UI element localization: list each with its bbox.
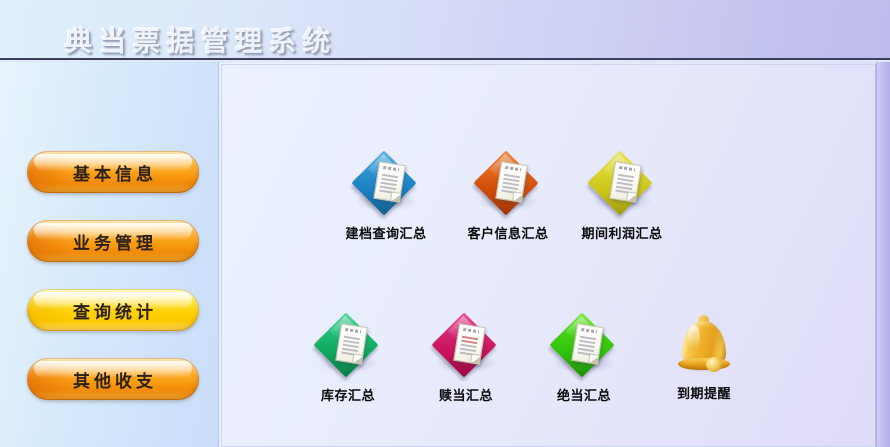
sidebar-item-label: 其他收支: [27, 358, 199, 400]
icon-item-inventory-summary[interactable]: 库存汇总: [292, 317, 404, 404]
book-icon: [550, 319, 618, 377]
book-icon: [314, 319, 382, 377]
icon-box: [542, 317, 626, 381]
content-frame: 建档查询汇总: [221, 64, 876, 447]
icon-item-forfeiture-summary[interactable]: 绝当汇总: [528, 317, 640, 404]
bell-icon: [674, 315, 734, 377]
panel-right-strip: [876, 62, 890, 447]
icon-label: 客户信息汇总: [467, 223, 548, 242]
main-panel: 建档查询汇总: [218, 62, 890, 447]
icon-grid: 建档查询汇总: [222, 65, 875, 446]
icon-item-customer-info-summary[interactable]: 客户信息汇总: [452, 155, 564, 242]
icon-label: 期间利润汇总: [581, 223, 662, 242]
icon-box: [662, 315, 746, 379]
icon-label: 建档查询汇总: [345, 223, 426, 242]
sidebar-item-business-management[interactable]: 业务管理: [27, 220, 199, 262]
icon-box: [424, 317, 508, 381]
book-icon: [588, 157, 656, 215]
icon-label: 库存汇总: [321, 385, 375, 404]
icon-box: [306, 317, 390, 381]
sidebar-item-label: 业务管理: [27, 220, 199, 262]
app-header: 典当票据管理系统: [0, 0, 890, 60]
icon-label: 到期提醒: [677, 383, 731, 402]
sidebar-item-query-statistics[interactable]: 查询统计: [27, 289, 199, 331]
sidebar: 基本信息 业务管理 查询统计 其他收支: [0, 62, 218, 447]
sidebar-item-other-income-expense[interactable]: 其他收支: [27, 358, 199, 400]
book-icon: [474, 157, 542, 215]
icon-item-period-profit-summary[interactable]: 期间利润汇总: [566, 155, 678, 242]
application-window: 典当票据管理系统 基本信息 业务管理 查询统计 其他收支: [0, 0, 890, 447]
sidebar-item-label: 基本信息: [27, 151, 199, 193]
book-icon: [432, 319, 500, 377]
icon-item-archive-query-summary[interactable]: 建档查询汇总: [330, 155, 442, 242]
sidebar-item-basic-info[interactable]: 基本信息: [27, 151, 199, 193]
icon-box: [466, 155, 550, 219]
icon-item-redemption-summary[interactable]: 赎当汇总: [410, 317, 522, 404]
icon-label: 赎当汇总: [439, 385, 493, 404]
book-icon: [352, 157, 420, 215]
page-title: 典当票据管理系统: [65, 20, 337, 59]
icon-box: [580, 155, 664, 219]
icon-label: 绝当汇总: [557, 385, 611, 404]
icon-box: [344, 155, 428, 219]
icon-item-due-date-reminder[interactable]: 到期提醒: [648, 315, 760, 402]
sidebar-item-label: 查询统计: [27, 289, 199, 331]
